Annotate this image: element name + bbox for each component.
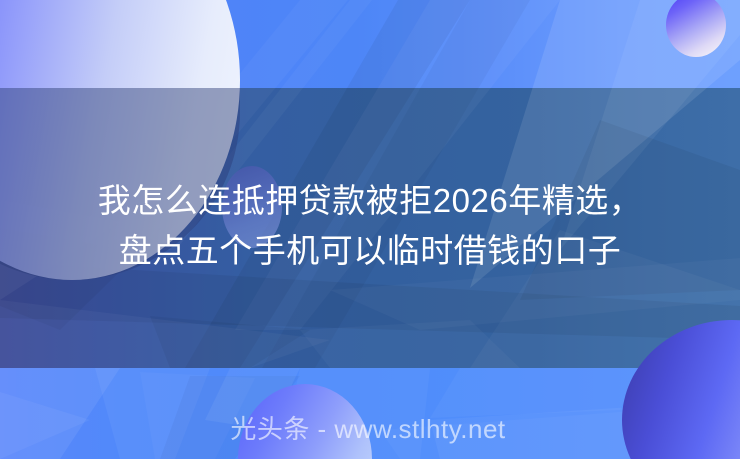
title-line-2: 盘点五个手机可以临时借钱的口子: [0, 226, 740, 276]
site-watermark: 光头条 - www.stlhty.net: [0, 409, 740, 446]
title-line-1: 我怎么连抵押贷款被拒2026年精选，: [0, 176, 740, 226]
poster-title: 我怎么连抵押贷款被拒2026年精选， 盘点五个手机可以临时借钱的口子: [0, 176, 740, 276]
watermark-text: 光头条 - www.stlhty.net: [230, 414, 505, 444]
poster-image: 我怎么连抵押贷款被拒2026年精选， 盘点五个手机可以临时借钱的口子 光头条 -…: [0, 0, 740, 459]
